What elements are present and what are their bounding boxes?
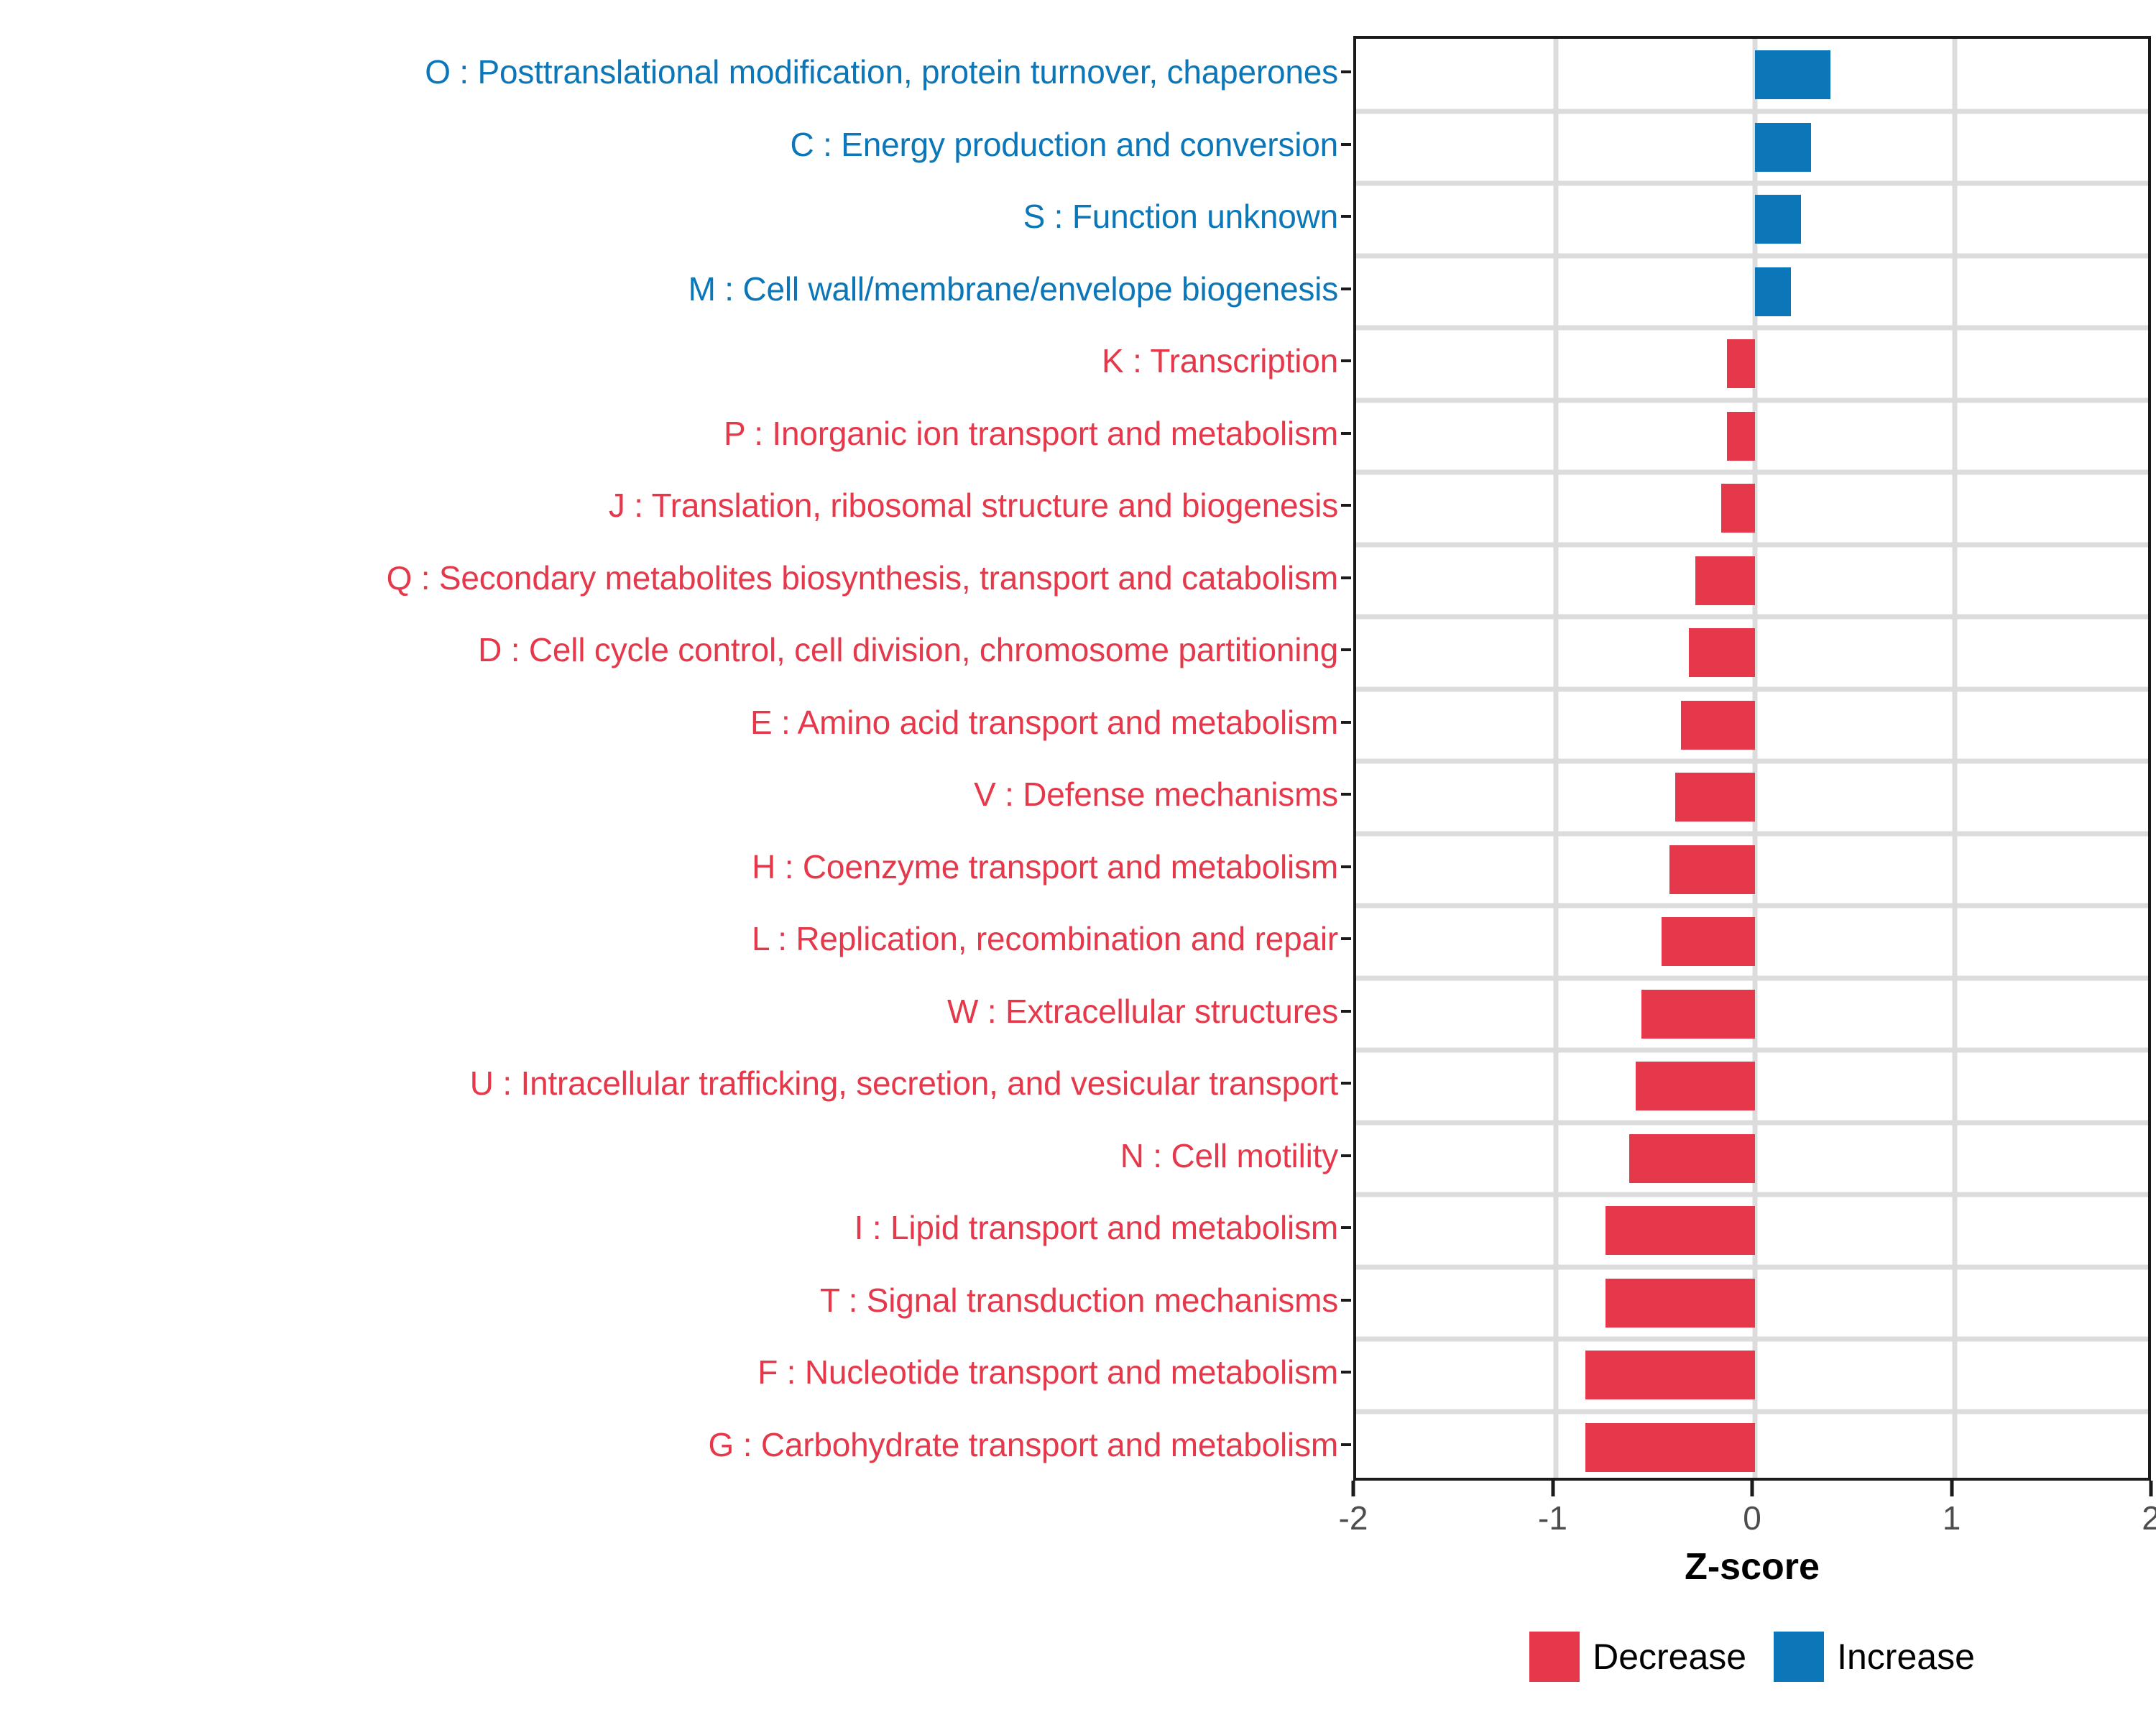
gridline-horizontal	[1356, 1264, 2148, 1269]
gridline-horizontal	[1356, 253, 2148, 258]
gridline-horizontal	[1356, 1409, 2148, 1414]
legend-item[interactable]: Increase	[1774, 1632, 1975, 1682]
bar	[1755, 50, 1830, 99]
y-axis-tick	[1341, 504, 1351, 507]
x-axis-tick-label: 0	[1743, 1499, 1761, 1537]
x-axis-tick	[2150, 1481, 2153, 1496]
bar	[1675, 773, 1755, 822]
y-axis-tick	[1341, 432, 1351, 435]
x-axis-tick-label: -2	[1339, 1499, 1368, 1537]
bar	[1641, 990, 1755, 1039]
y-axis-tick	[1341, 287, 1351, 290]
x-axis-tick	[1950, 1481, 1953, 1496]
gridline-horizontal	[1356, 1048, 2148, 1053]
gridline-horizontal	[1356, 542, 2148, 547]
bar	[1727, 412, 1755, 461]
gridline-horizontal	[1356, 470, 2148, 475]
x-axis-tick	[1551, 1481, 1554, 1496]
y-axis-tick	[1341, 648, 1351, 651]
category-label: U : Intracellular trafficking, secretion…	[470, 1067, 1338, 1100]
legend-swatch-increase	[1774, 1632, 1824, 1682]
bar	[1585, 1351, 1755, 1399]
bar	[1585, 1423, 1755, 1472]
y-axis-tick	[1341, 937, 1351, 940]
chart-root: O : Posttranslational modification, prot…	[0, 0, 2156, 1725]
x-axis-tick	[1352, 1481, 1355, 1496]
gridline-horizontal	[1356, 686, 2148, 691]
y-axis-tick	[1341, 865, 1351, 868]
bar	[1689, 628, 1755, 677]
category-label: C : Energy production and conversion	[791, 128, 1338, 161]
gridline-horizontal	[1356, 1337, 2148, 1342]
category-label: S : Function unknown	[1023, 200, 1338, 233]
y-axis-tick	[1341, 1226, 1351, 1229]
category-label: H : Coenzyme transport and metabolism	[752, 850, 1338, 883]
category-label: M : Cell wall/membrane/envelope biogenes…	[688, 272, 1338, 305]
category-label: O : Posttranslational modification, prot…	[425, 55, 1338, 88]
gridline-horizontal	[1356, 831, 2148, 836]
bar	[1755, 267, 1791, 316]
y-axis-tick	[1341, 1010, 1351, 1013]
bar	[1755, 123, 1811, 172]
category-label: T : Signal transduction mechanisms	[820, 1284, 1338, 1317]
gridline-horizontal	[1356, 1120, 2148, 1125]
bar	[1755, 195, 1801, 244]
plot-area	[1356, 39, 2148, 1478]
category-label: D : Cell cycle control, cell division, c…	[478, 633, 1338, 666]
y-axis-tick	[1341, 1082, 1351, 1085]
y-axis-tick	[1341, 70, 1351, 73]
y-axis-tick	[1341, 1299, 1351, 1302]
x-axis-tick-label: 1	[1943, 1499, 1961, 1537]
chart-legend: DecreaseIncrease	[1353, 1632, 2151, 1682]
x-axis-title: Z-score	[1353, 1545, 2151, 1588]
category-label: F : Nucleotide transport and metabolism	[757, 1356, 1338, 1389]
category-label: J : Translation, ribosomal structure and…	[609, 489, 1338, 522]
x-axis-tick-label: 2	[2142, 1499, 2156, 1537]
category-label: I : Lipid transport and metabolism	[854, 1211, 1338, 1244]
legend-item[interactable]: Decrease	[1529, 1632, 1746, 1682]
y-axis-tick	[1341, 721, 1351, 724]
legend-label: Increase	[1837, 1639, 1975, 1675]
bar	[1606, 1206, 1755, 1255]
y-axis-tick	[1341, 576, 1351, 579]
bar	[1695, 556, 1755, 605]
gridline-horizontal	[1356, 181, 2148, 186]
y-axis-tick	[1341, 143, 1351, 146]
category-label: E : Amino acid transport and metabolism	[750, 706, 1338, 739]
bar	[1606, 1279, 1755, 1328]
x-axis-tick	[1751, 1481, 1754, 1496]
gridline-horizontal	[1356, 109, 2148, 114]
bar	[1636, 1062, 1756, 1110]
gridline-horizontal	[1356, 975, 2148, 980]
legend-label: Decrease	[1593, 1639, 1746, 1675]
legend-swatch-decrease	[1529, 1632, 1580, 1682]
category-label: L : Replication, recombination and repai…	[752, 922, 1338, 955]
category-axis-labels: O : Posttranslational modification, prot…	[0, 36, 1351, 1481]
y-axis-tick	[1341, 215, 1351, 218]
category-label: W : Extracellular structures	[947, 995, 1338, 1028]
category-label: P : Inorganic ion transport and metaboli…	[724, 417, 1338, 450]
y-axis-tick	[1341, 793, 1351, 796]
gridline-horizontal	[1356, 1192, 2148, 1197]
plot-panel	[1353, 36, 2151, 1481]
bar	[1669, 845, 1755, 894]
category-label: Q : Secondary metabolites biosynthesis, …	[387, 561, 1338, 594]
category-label: G : Carbohydrate transport and metabolis…	[709, 1428, 1338, 1461]
gridline-horizontal	[1356, 615, 2148, 620]
gridline-horizontal	[1356, 759, 2148, 764]
y-axis-tick	[1341, 1154, 1351, 1157]
gridline-horizontal	[1356, 397, 2148, 402]
y-axis-tick	[1341, 1443, 1351, 1446]
bar	[1629, 1134, 1755, 1183]
x-axis-tick-label: -1	[1538, 1499, 1567, 1537]
y-axis-tick	[1341, 1371, 1351, 1374]
category-label: V : Defense mechanisms	[974, 778, 1338, 811]
bar	[1721, 484, 1755, 533]
category-label: N : Cell motility	[1120, 1139, 1338, 1172]
bar	[1681, 701, 1755, 750]
bar	[1727, 339, 1755, 388]
bar	[1662, 917, 1755, 966]
gridline-horizontal	[1356, 903, 2148, 908]
y-axis-tick	[1341, 359, 1351, 362]
category-label: K : Transcription	[1102, 344, 1338, 377]
gridline-horizontal	[1356, 326, 2148, 331]
